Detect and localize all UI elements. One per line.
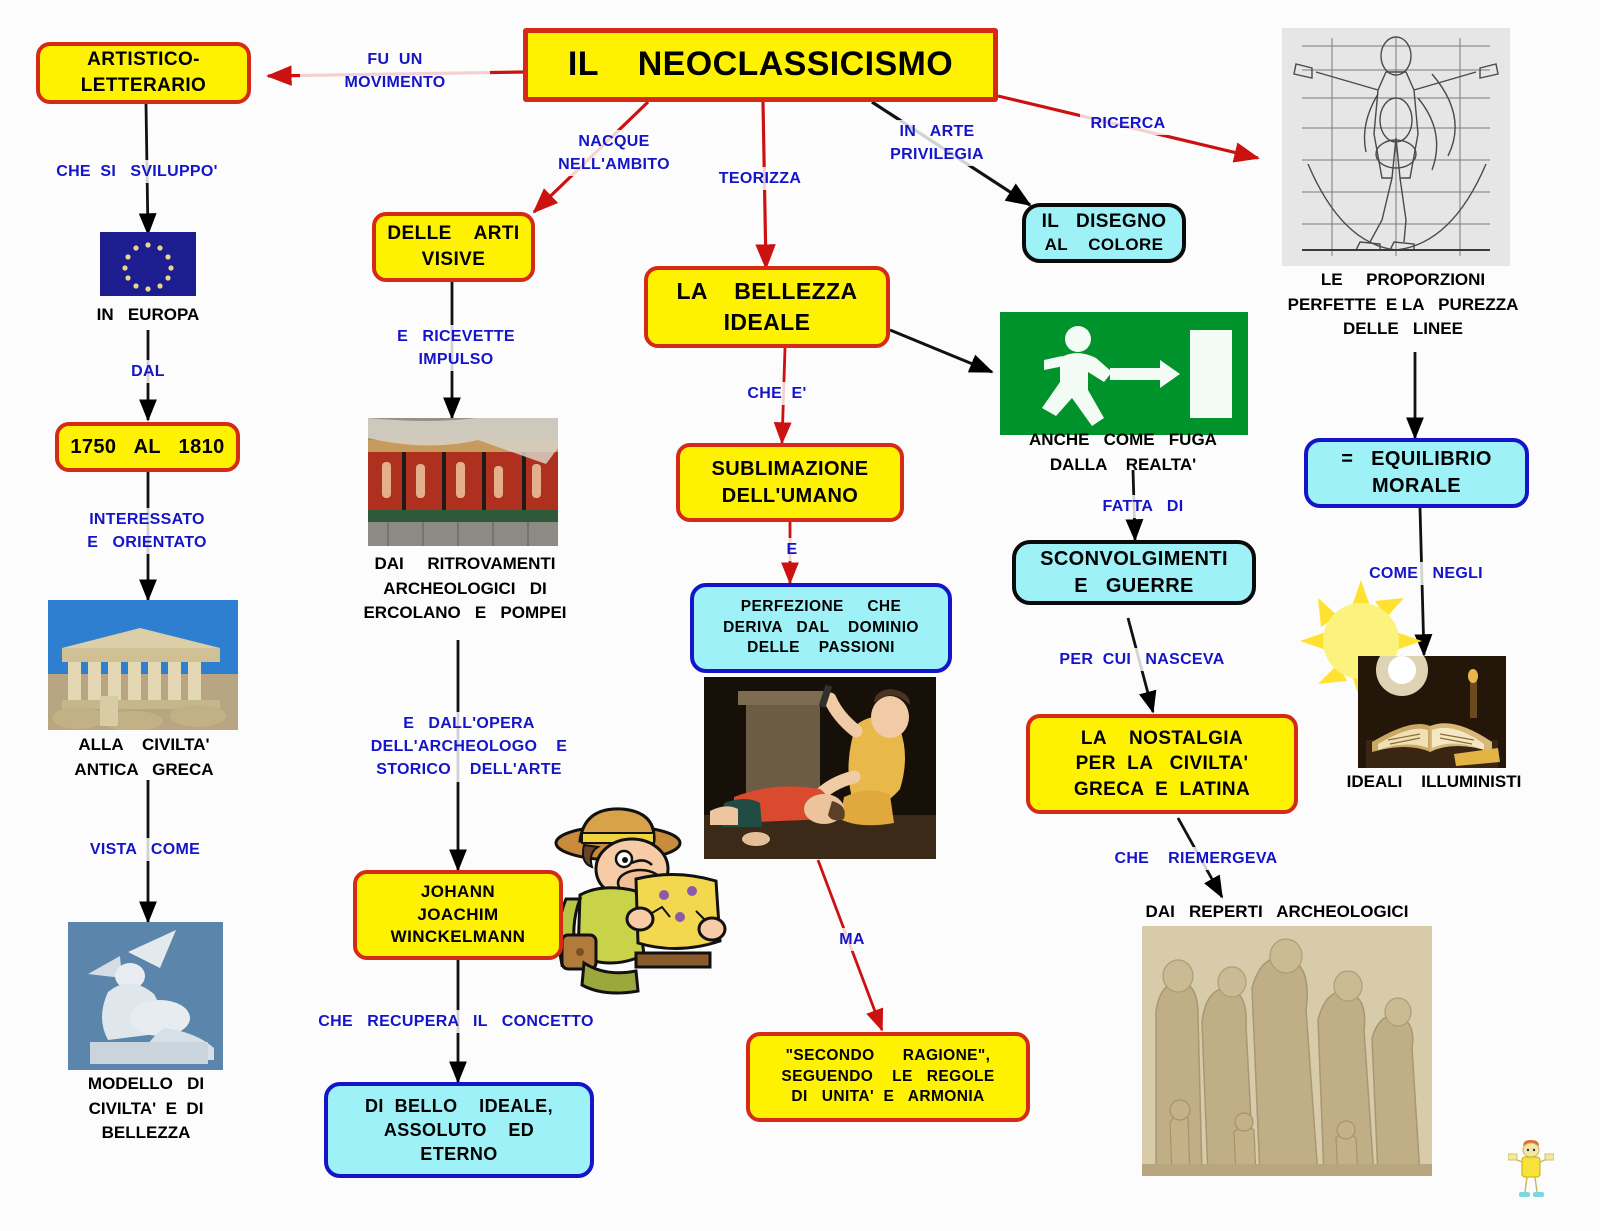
node-delle-arti-visive[interactable]: DELLE ARTI VISIVE (372, 212, 535, 282)
node-line: VISIVE (422, 247, 486, 273)
label-fatta-di: FATTA DI (1080, 495, 1206, 518)
label-interessato-orientato: INTERESSATO E ORIENTATO (52, 508, 242, 554)
node-artistico-letterario[interactable]: ARTISTICO- LETTERARIO (36, 42, 251, 104)
node-line: JOHANN (421, 881, 495, 904)
node-line: SUBLIMAZIONE (711, 456, 868, 483)
caption-anche-come-fuga: ANCHE COME FUGA DALLA REALTA' (998, 428, 1248, 477)
node-line: ASSOLUTO ED (384, 1118, 534, 1142)
vitruvian-man-proportions-drawing (1282, 28, 1510, 266)
node-secondo-ragione[interactable]: "SECONDO RAGIONE", SEGUENDO LE REGOLE DI… (746, 1032, 1030, 1122)
node-line: DERIVA DAL DOMINIO (723, 618, 919, 639)
concept-map-canvas: IL NEOCLASSICISMO ARTISTICO- LETTERARIO … (0, 0, 1600, 1231)
node-line: = EQUILIBRIO (1341, 446, 1492, 473)
node-line: WINCKELMANN (391, 926, 526, 949)
node-line: AL COLORE (1045, 234, 1164, 257)
pompeii-fresco-photo (368, 418, 558, 546)
caption-in-europa: IN EUROPA (58, 303, 238, 328)
node-line: ARTISTICO- (87, 47, 200, 73)
node-di-bello-ideale[interactable]: DI BELLO IDEALE, ASSOLUTO ED ETERNO (324, 1082, 594, 1178)
caption-modello-di-civilta: MODELLO DI CIVILTA' E DI BELLEZZA (50, 1072, 242, 1146)
label-per-cui-nasceva: PER CUI NASCEVA (1038, 648, 1246, 671)
judith-beheading-holofernes-painting (704, 677, 936, 859)
label-fu-un-movimento: FU UN MOVIMENTO (300, 48, 490, 94)
label-che-recupera-il-concetto: CHE RECUPERA IL CONCETTO (286, 1010, 626, 1033)
node-line: ETERNO (420, 1142, 497, 1166)
label-ricerca: RICERCA (1080, 112, 1176, 135)
caption-le-proporzioni: LE PROPORZIONI PERFETTE E LA PUREZZA DEL… (1262, 268, 1544, 342)
node-sublimazione-dellumano[interactable]: SUBLIMAZIONE DELL'UMANO (676, 443, 904, 522)
node-sconvolgimenti-e-guerre[interactable]: SCONVOLGIMENTI E GUERRE (1012, 540, 1256, 605)
caption-dai-reperti-archeologici: DAI REPERTI ARCHEOLOGICI (1124, 900, 1430, 925)
label-e-ricevette-impulso: E RICEVETTE IMPULSO (368, 325, 544, 371)
node-line: IL DISEGNO (1042, 209, 1167, 235)
node-line: E GUERRE (1074, 573, 1194, 600)
node-il-disegno-al-colore[interactable]: IL DISEGNO AL COLORE (1022, 203, 1186, 263)
label-e: E (770, 538, 814, 561)
greek-pediment-sculptures-photo (1142, 926, 1432, 1176)
label-nacque-nellambito: NACQUE NELL'AMBITO (539, 130, 689, 176)
canova-amore-e-psiche-sculpture-photo (68, 922, 223, 1070)
parthenon-photo (48, 600, 238, 730)
node-line: LA NOSTALGIA (1081, 726, 1243, 752)
label-che-riemergeva: CHE RIEMERGEVA (1096, 847, 1296, 870)
node-line: DI UNITA' E ARMONIA (791, 1087, 984, 1108)
node-johann-joachim-winckelmann[interactable]: JOHANN JOACHIM WINCKELMANN (353, 870, 563, 960)
node-line: JOACHIM (417, 904, 498, 927)
label-ma: MA (826, 928, 878, 951)
node-line: DI BELLO IDEALE, (365, 1094, 553, 1118)
node-title-line: IL NEOCLASSICISMO (568, 42, 953, 88)
cartoon-stick-figure-watermark (1508, 1140, 1554, 1202)
emergency-exit-sign (1000, 312, 1248, 435)
node-line: GRECA E LATINA (1074, 777, 1250, 803)
node-line: LA BELLEZZA (676, 276, 857, 307)
node-line: IDEALE (724, 307, 811, 338)
node-line: 1750 AL 1810 (70, 434, 224, 461)
node-line: "SECONDO RAGIONE", (786, 1046, 991, 1067)
node-la-nostalgia-civilta-greca-latina[interactable]: LA NOSTALGIA PER LA CIVILTA' GRECA E LAT… (1026, 714, 1298, 814)
label-teorizza: TEORIZZA (705, 167, 815, 190)
illuminated-open-book-photo (1358, 656, 1506, 768)
label-che-e: CHE E' (722, 382, 832, 405)
node-periodo-1750-1810[interactable]: 1750 AL 1810 (55, 422, 240, 472)
node-line: PERFEZIONE CHE (741, 597, 902, 618)
caption-dai-ritrovamenti: DAI RITROVAMENTI ARCHEOLOGICI DI ERCOLAN… (336, 552, 594, 626)
node-line: DELLE ARTI (387, 221, 519, 247)
node-line: SEGUENDO LE REGOLE (781, 1067, 994, 1088)
cartoon-archaeologist-clipart (540, 795, 728, 1000)
node-perfezione-dominio-passioni[interactable]: PERFEZIONE CHE DERIVA DAL DOMINIO DELLE … (690, 583, 952, 673)
node-equilibrio-morale[interactable]: = EQUILIBRIO MORALE (1304, 438, 1529, 508)
label-che-si-sviluppo: CHE SI SVILUPPO' (42, 160, 232, 183)
caption-ideali-illuministi: IDEALI ILLUMINISTI (1316, 770, 1552, 795)
caption-civilta-antica-greca: ALLA CIVILTA' ANTICA GRECA (46, 733, 242, 782)
label-dal: DAL (108, 360, 188, 383)
label-in-arte-privilegia: IN ARTE PRIVILEGIA (872, 120, 1002, 166)
node-line: MORALE (1372, 473, 1461, 500)
node-line: DELLE PASSIONI (747, 638, 895, 659)
node-line: SCONVOLGIMENTI (1040, 546, 1228, 573)
node-line: PER LA CIVILTA' (1076, 751, 1249, 777)
node-title-neoclassicismo[interactable]: IL NEOCLASSICISMO (523, 28, 998, 102)
node-la-bellezza-ideale[interactable]: LA BELLEZZA IDEALE (644, 266, 890, 348)
label-vista-come: VISTA COME (60, 838, 230, 861)
label-e-dallopera: E DALL'OPERA DELL'ARCHEOLOGO E STORICO D… (344, 712, 594, 782)
node-line: DELL'UMANO (722, 483, 859, 510)
node-line: LETTERARIO (81, 73, 206, 99)
eu-flag-image (100, 232, 196, 296)
